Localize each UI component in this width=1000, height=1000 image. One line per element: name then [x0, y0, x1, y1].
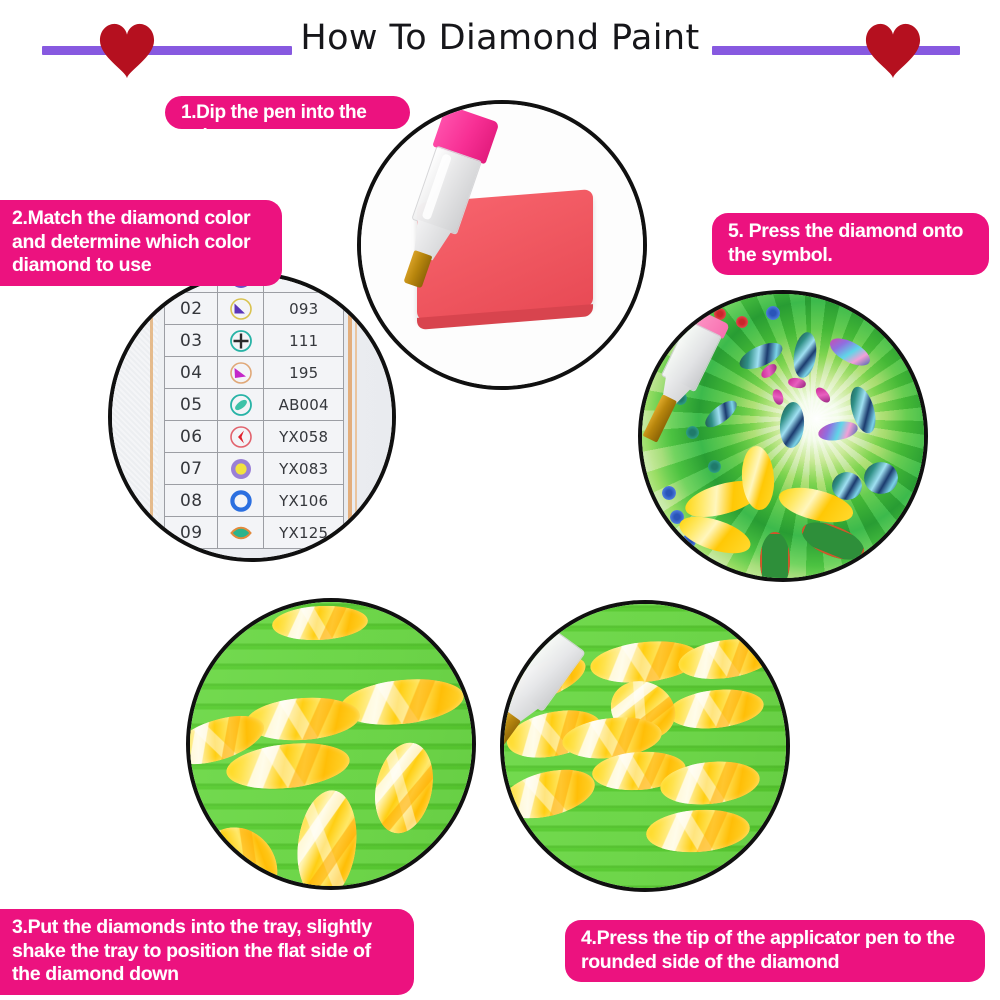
pen-picking-up-diamond-photo [500, 600, 790, 892]
legend-code: YX125 [264, 517, 344, 549]
chart-rule-right [348, 276, 352, 558]
page-header: How To Diamond Paint [0, 0, 1000, 90]
infographic-page: How To Diamond Paint 1.Dip the pen into … [0, 0, 1000, 1000]
step-1-label: 1.Dip the pen into the gel [165, 96, 410, 129]
legend-table: 01 026 02 [164, 272, 344, 549]
table-row: 04 195 [165, 357, 344, 389]
pen-dipping-into-gel-photo [357, 100, 647, 390]
legend-code: 093 [264, 293, 344, 325]
color-legend-chart-photo: 01 026 02 [108, 272, 396, 562]
legend-number: 06 [165, 421, 218, 453]
legend-code: 111 [264, 325, 344, 357]
symbol-dot [662, 486, 676, 500]
diamond [186, 812, 293, 890]
rhinestone [832, 472, 862, 500]
legend-number: 07 [165, 453, 218, 485]
symbol-dot [766, 306, 780, 320]
triangle-purple-icon [218, 293, 264, 325]
table-row: 08 YX106 [165, 485, 344, 517]
legend-number: 04 [165, 357, 218, 389]
step-2-label: 2.Match the diamond color and determine … [0, 200, 282, 286]
pressing-diamond-onto-symbol-photo [638, 290, 928, 582]
ring-blue-icon [218, 485, 264, 517]
legend-code: AB004 [264, 389, 344, 421]
symbol-dot [708, 460, 721, 473]
legend-code: YX106 [264, 485, 344, 517]
pen-tip [500, 710, 521, 772]
legend-number: 03 [165, 325, 218, 357]
plus-circle-teal-icon [218, 325, 264, 357]
symbol-dot [736, 316, 748, 328]
diamond [666, 685, 765, 733]
chevron-red-icon [218, 421, 264, 453]
triangle-magenta-icon [218, 357, 264, 389]
table-row: 07 YX083 [165, 453, 344, 485]
applicator-pen [500, 619, 597, 796]
diamond [292, 787, 363, 890]
diamond [676, 634, 776, 685]
oval-slash-teal-icon [218, 389, 264, 421]
legend-code: YX083 [264, 453, 344, 485]
step-5-label: 5. Press the diamond onto the symbol. [712, 213, 989, 275]
legend-code: YX058 [264, 421, 344, 453]
table-row: 02 093 [165, 293, 344, 325]
rhinestone [864, 462, 898, 494]
pen-tip [403, 250, 432, 288]
legend-number: 02 [165, 293, 218, 325]
diamonds-in-tray-photo [186, 598, 476, 890]
legend-number: 05 [165, 389, 218, 421]
table-row: 05 AB004 [165, 389, 344, 421]
chart-rule-right-thin [355, 276, 357, 558]
legend-code: 195 [264, 357, 344, 389]
page-title: How To Diamond Paint [0, 18, 1000, 58]
chart-rule-left [150, 276, 153, 558]
legend-number: 09 [165, 517, 218, 549]
diamond [271, 604, 369, 643]
diamond [645, 806, 752, 855]
table-row: 09 YX125 [165, 517, 344, 549]
legend-number: 08 [165, 485, 218, 517]
dot-ring-purple-yellow-icon [218, 453, 264, 485]
table-row: 06 YX058 [165, 421, 344, 453]
diamond [367, 737, 441, 839]
pen-tip [643, 394, 678, 442]
table-row: 03 111 [165, 325, 344, 357]
step-4-label: 4.Press the tip of the applicator pen to… [565, 920, 985, 982]
step-3-label: 3.Put the diamonds into the tray, slight… [0, 909, 414, 995]
leaf-teal-orange-icon [218, 517, 264, 549]
